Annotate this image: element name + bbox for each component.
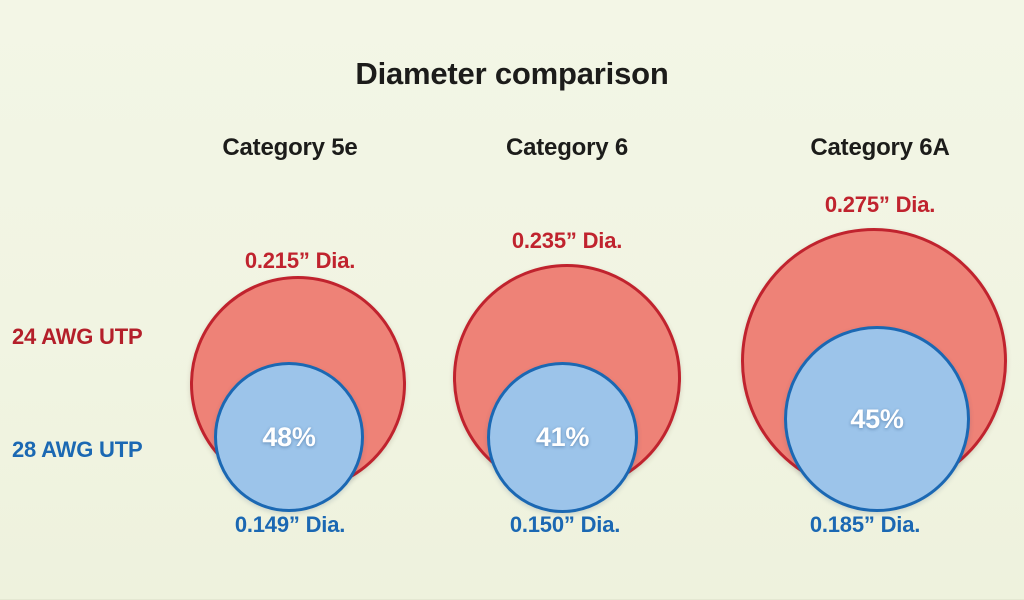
inner-diameter-label-6: 0.150” Dia. <box>455 512 675 538</box>
category-header-6: Category 6 <box>462 134 672 162</box>
percent-label-6a: 45% <box>850 404 903 435</box>
inner-diameter-label-6a: 0.185” Dia. <box>755 512 975 538</box>
percent-label-6: 41% <box>536 422 589 453</box>
page-title: Diameter comparison <box>0 56 1024 92</box>
legend-row-28awg: 28 AWG UTP <box>12 437 142 463</box>
outer-diameter-label-5e: 0.215” Dia. <box>185 248 415 274</box>
category-header-5e: Category 5e <box>180 134 400 162</box>
percent-label-5e: 48% <box>262 422 315 453</box>
inner-diameter-label-5e: 0.149” Dia. <box>180 512 400 538</box>
legend-row-24awg: 24 AWG UTP <box>12 324 142 350</box>
inner-circle-6a: 45% <box>784 326 970 512</box>
category-header-6a: Category 6A <box>760 134 1000 162</box>
inner-circle-5e: 48% <box>214 362 364 512</box>
outer-diameter-label-6: 0.235” Dia. <box>452 228 682 254</box>
inner-circle-6: 41% <box>487 362 638 513</box>
outer-diameter-label-6a: 0.275” Dia. <box>765 192 995 218</box>
chart-canvas: Diameter comparison Category 5e Category… <box>0 0 1024 600</box>
